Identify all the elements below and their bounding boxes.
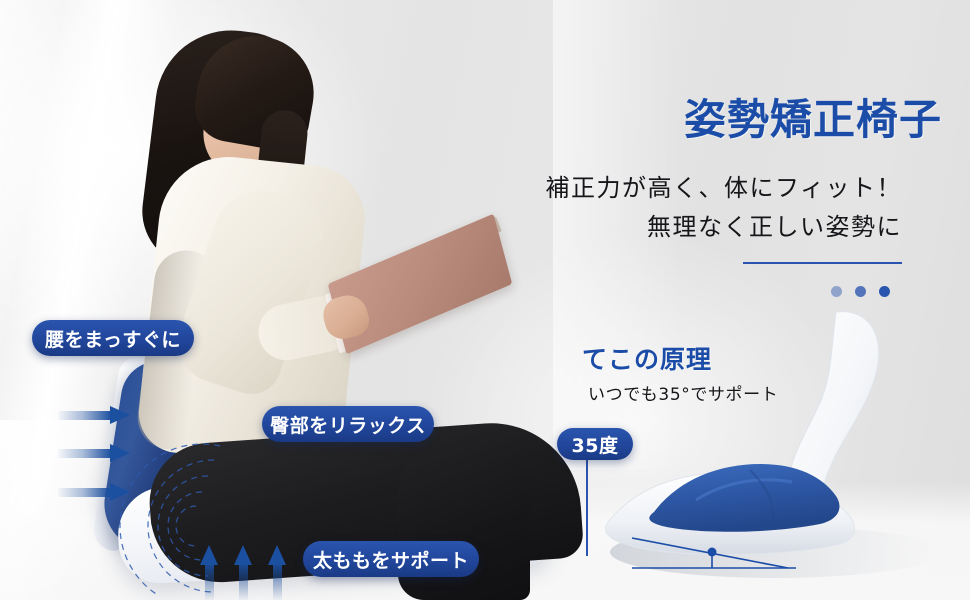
subtitle-line-2: 無理なく正しい姿勢に (647, 207, 902, 242)
force-arrow-vertical-1 (200, 545, 219, 600)
callout-thighs[interactable]: 太ももをサポート (303, 541, 479, 577)
callout-hips-label: 臀部をリラックス (270, 411, 425, 438)
angle-vertex-marker (708, 548, 717, 557)
page-title: 姿勢矯正椅子 (684, 86, 942, 147)
force-arrow-horizontal-2 (58, 444, 130, 463)
angle-badge-label: 35度 (572, 431, 619, 458)
angle-badge-leader-line (586, 458, 588, 556)
force-arrow-vertical-2 (234, 545, 253, 600)
callout-thighs-label: 太ももをサポート (313, 546, 469, 573)
angle-badge[interactable]: 35度 (557, 428, 633, 460)
force-arrow-horizontal-1 (58, 406, 130, 425)
callout-hips[interactable]: 臀部をリラックス (262, 406, 434, 442)
dot-medium-icon (855, 286, 866, 297)
force-arrow-horizontal-3 (58, 483, 130, 502)
decorative-dots (831, 286, 890, 297)
header-divider (743, 262, 902, 264)
dot-light-icon (831, 286, 842, 297)
callout-lumbar[interactable]: 腰をまっすぐに (32, 320, 194, 356)
force-arrow-vertical-3 (268, 545, 287, 600)
subtitle-line-1: 補正力が高く、体にフィット！ (545, 168, 902, 203)
dot-dark-icon (879, 286, 890, 297)
callout-lumbar-label: 腰をまっすぐに (45, 325, 181, 352)
product-ad-banner: 腰をまっすぐに 臀部をリラックス 太ももをサポート 姿勢矯正椅子 補正力が高く、… (0, 0, 970, 600)
product-image (600, 300, 970, 600)
